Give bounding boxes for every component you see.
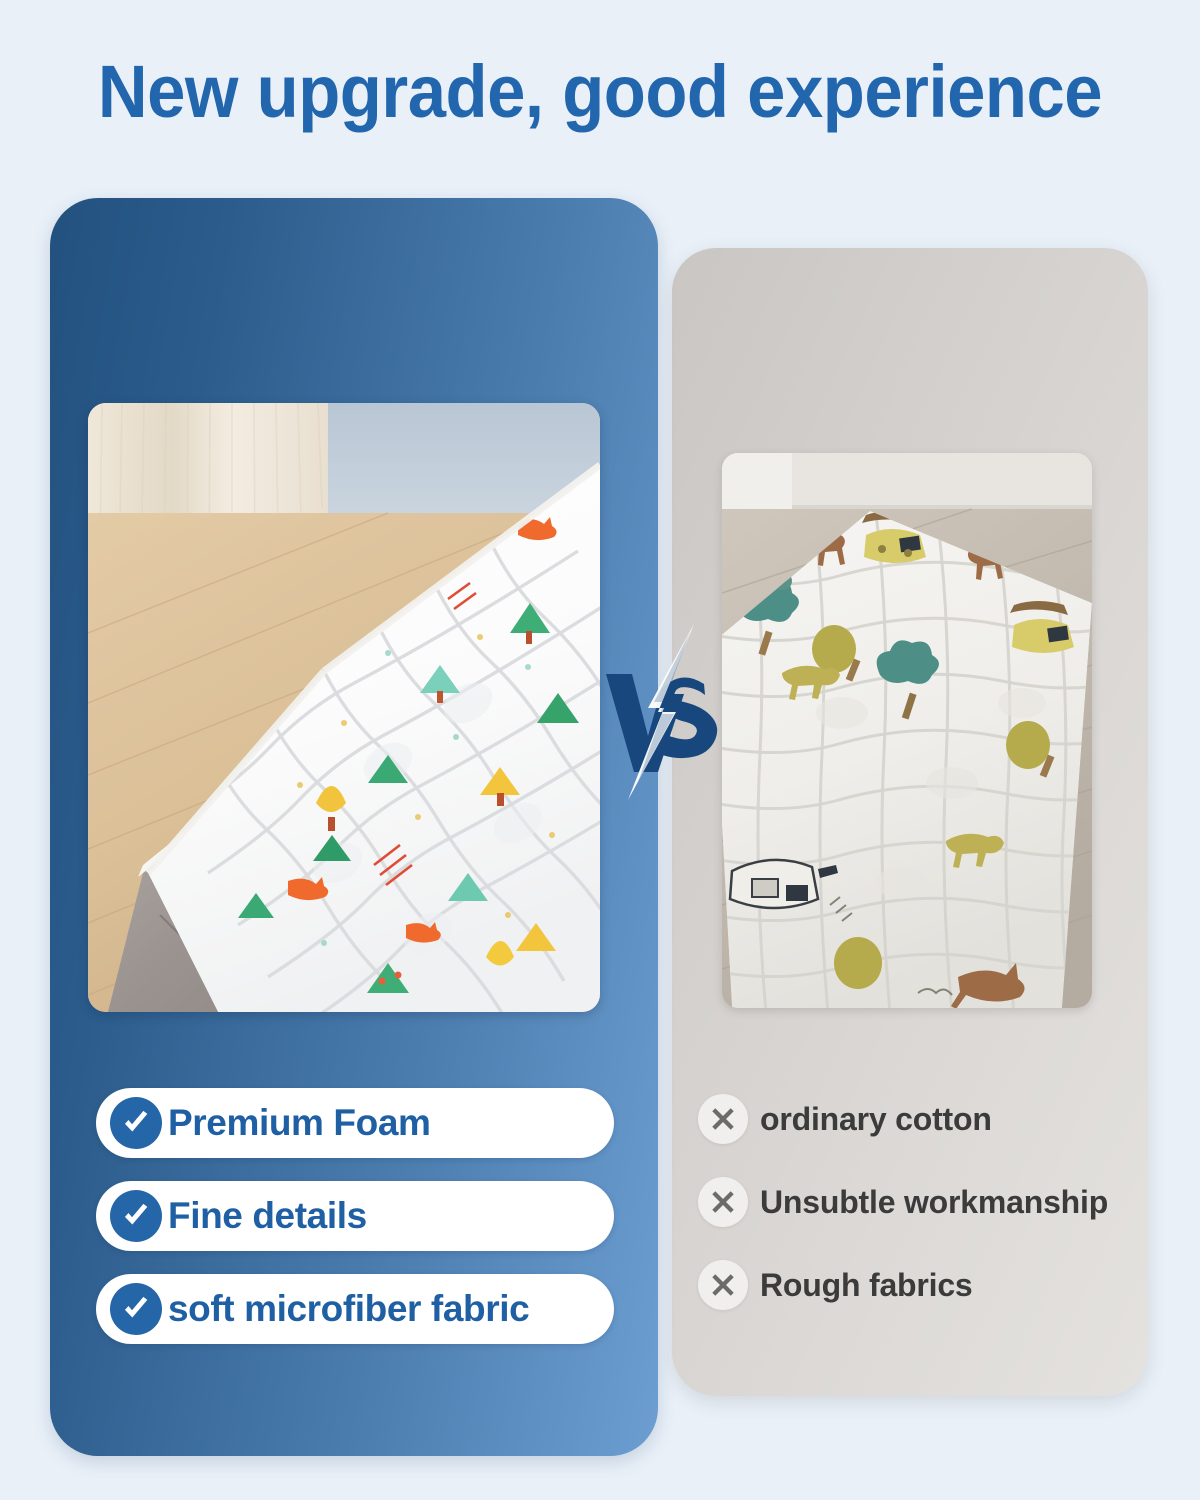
- check-icon: [110, 1190, 162, 1242]
- ours-feature-item[interactable]: soft microfiber fabric: [96, 1274, 614, 1344]
- page-title: New upgrade, good experience: [42, 48, 1158, 136]
- vs-divider: [598, 612, 724, 812]
- x-icon: [698, 1094, 748, 1144]
- ours-feature-label: Fine details: [168, 1195, 367, 1237]
- x-icon: [698, 1177, 748, 1227]
- product-photo-ours-icon: [88, 403, 600, 1012]
- others-feature-item[interactable]: Unsubtle workmanship: [698, 1173, 1138, 1231]
- ours-feature-label: Premium Foam: [168, 1102, 431, 1144]
- others-product-photo: [722, 453, 1092, 1008]
- check-icon: [110, 1283, 162, 1335]
- ours-feature-item[interactable]: Premium Foam: [96, 1088, 614, 1158]
- x-icon: [698, 1260, 748, 1310]
- others-feature-label: Unsubtle workmanship: [760, 1183, 1108, 1221]
- product-photo-others-icon: [722, 453, 1092, 1008]
- ours-product-photo: [88, 403, 600, 1012]
- others-feature-label: ordinary cotton: [760, 1100, 992, 1138]
- check-icon: [110, 1097, 162, 1149]
- others-feature-label: Rough fabrics: [760, 1266, 973, 1304]
- ours-feature-list: Premium Foam Fine details soft microfibe…: [96, 1088, 614, 1344]
- vs-lightning-icon: [598, 612, 724, 812]
- ours-feature-label: soft microfiber fabric: [168, 1288, 529, 1330]
- others-feature-item[interactable]: Rough fabrics: [698, 1256, 1138, 1314]
- others-feature-item[interactable]: ordinary cotton: [698, 1090, 1138, 1148]
- others-feature-list: ordinary cotton Unsubtle workmanship Rou…: [698, 1090, 1138, 1314]
- ours-feature-item[interactable]: Fine details: [96, 1181, 614, 1251]
